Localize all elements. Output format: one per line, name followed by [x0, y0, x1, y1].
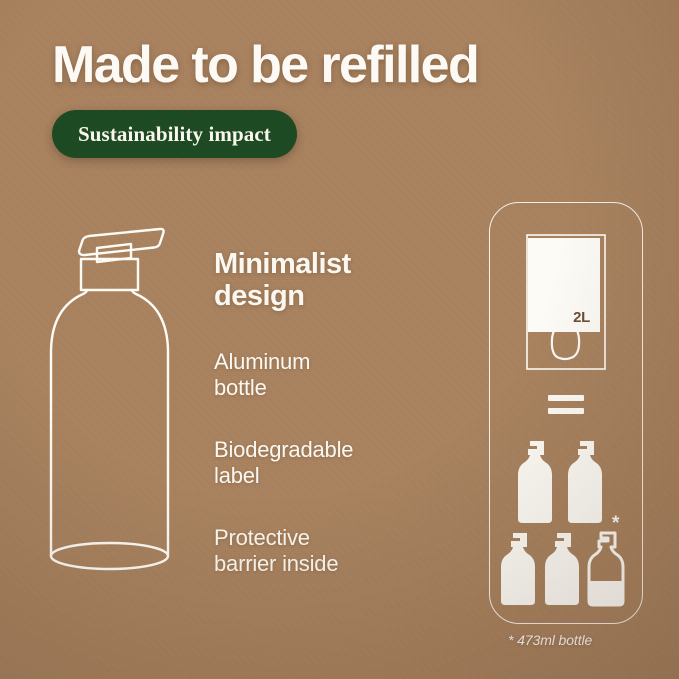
bottle-row-bottom [501, 533, 623, 605]
refill-volume-block: 2L [528, 238, 600, 332]
pump-bottle-outline-icon [42, 218, 222, 598]
list-item-line2: bottle [214, 375, 429, 401]
promo-graphic: Made to be refilled Sustainability impac… [0, 0, 679, 679]
page-title: Made to be refilled [52, 38, 652, 92]
bottle-filled-icon [545, 533, 579, 605]
pump-bottle-illustration [42, 218, 222, 598]
list-item-line2: barrier inside [214, 551, 429, 577]
feature-list: Minimalist design Aluminum bottle Biodeg… [214, 248, 429, 577]
feature-heading-line1: Minimalist [214, 248, 429, 280]
bottle-filled-icon [568, 441, 602, 523]
feature-heading-line2: design [214, 280, 429, 312]
list-item-line1: Aluminum [214, 349, 429, 375]
list-item-line2: label [214, 463, 429, 489]
footnote-text: * 473ml bottle [508, 632, 592, 648]
equals-sign [548, 395, 584, 414]
bottle-row-top [518, 441, 602, 523]
asterisk-marker: * [612, 514, 619, 533]
list-item-line1: Protective [214, 525, 429, 551]
bottle-filled-icon [501, 533, 535, 605]
list-item: Biodegradable label [214, 437, 429, 489]
feature-heading: Minimalist design [214, 248, 429, 313]
bottle-filled-icon [518, 441, 552, 523]
badge-label: Sustainability impact [78, 122, 271, 147]
list-item: Aluminum bottle [214, 349, 429, 401]
list-item-line1: Biodegradable [214, 437, 429, 463]
bottle-partial-icon [589, 533, 623, 605]
refill-volume-label: 2L [573, 309, 590, 326]
list-item: Protective barrier inside [214, 525, 429, 577]
status-badge: Sustainability impact [52, 110, 297, 158]
